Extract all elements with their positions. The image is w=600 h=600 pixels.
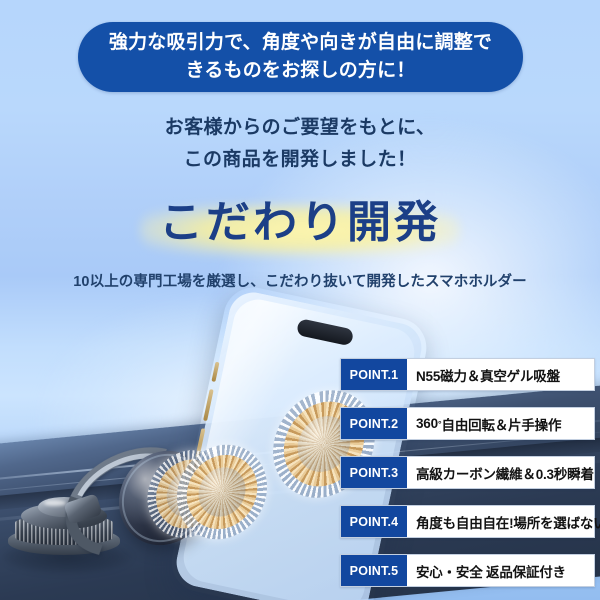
- headline-banner-text: 強力な吸引力で、角度や向きが自由に調整で きるものをお探しの方に！: [83, 29, 518, 84]
- point-4-label: POINT.4: [341, 506, 407, 537]
- point-2-text-rest: 自由回転＆片手操作: [442, 414, 562, 434]
- point-row-5: POINT.5 安心・安全 返品保証付き: [340, 554, 595, 587]
- point-5-text: 安心・安全 返品保証付き: [407, 555, 594, 586]
- point-1-text: N55磁力＆真空ゲル吸盤: [407, 359, 594, 390]
- point-3-text: 高級カーボン繊維＆0.3秒瞬着: [407, 457, 594, 488]
- point-2-text: 360°自由回転＆片手操作: [407, 408, 594, 439]
- main-headline-wrapper: こだわり開発: [0, 198, 600, 249]
- banner-line-1: 強力な吸引力で、角度や向きが自由に調整で: [109, 32, 492, 53]
- point-2-label: POINT.2: [341, 408, 407, 439]
- point-3-label: POINT.3: [341, 457, 407, 488]
- point-2-number: 360: [416, 416, 438, 431]
- point-5-label: POINT.5: [341, 555, 407, 586]
- advertisement-page: 強力な吸引力で、角度や向きが自由に調整で きるものをお探しの方に！ お客様からの…: [0, 0, 600, 600]
- suction-base-specular-highlight: [44, 500, 66, 506]
- banner-line-2: きるものをお探しの方に！: [185, 60, 415, 81]
- point-4-text: 角度も自由自在!場所を選ばない: [407, 506, 600, 537]
- sub-headline: お客様からのご要望をもとに、 この商品を開発しました！: [0, 112, 600, 177]
- tagline: 10以上の専門工場を厳選し、こだわり抜いて開発したスマホホルダー: [0, 270, 600, 291]
- points-list: POINT.1 N55磁力＆真空ゲル吸盤 POINT.2 360°自由回転＆片手…: [340, 358, 595, 600]
- point-row-3: POINT.3 高級カーボン繊維＆0.3秒瞬着: [340, 456, 595, 489]
- main-headline: こだわり開発: [159, 198, 441, 249]
- sub-headline-line-1: お客様からのご要望をもとに、: [165, 117, 436, 138]
- point-row-1: POINT.1 N55磁力＆真空ゲル吸盤: [340, 358, 595, 391]
- phone-mute-button: [211, 362, 219, 382]
- point-row-2: POINT.2 360°自由回転＆片手操作: [340, 407, 595, 440]
- point-1-label: POINT.1: [341, 359, 407, 390]
- point-row-4: POINT.4 角度も自由自在!場所を選ばない: [340, 505, 595, 538]
- headline-banner: 強力な吸引力で、角度や向きが自由に調整で きるものをお探しの方に！: [78, 22, 523, 92]
- sub-headline-line-2: この商品を開発しました！: [184, 149, 417, 170]
